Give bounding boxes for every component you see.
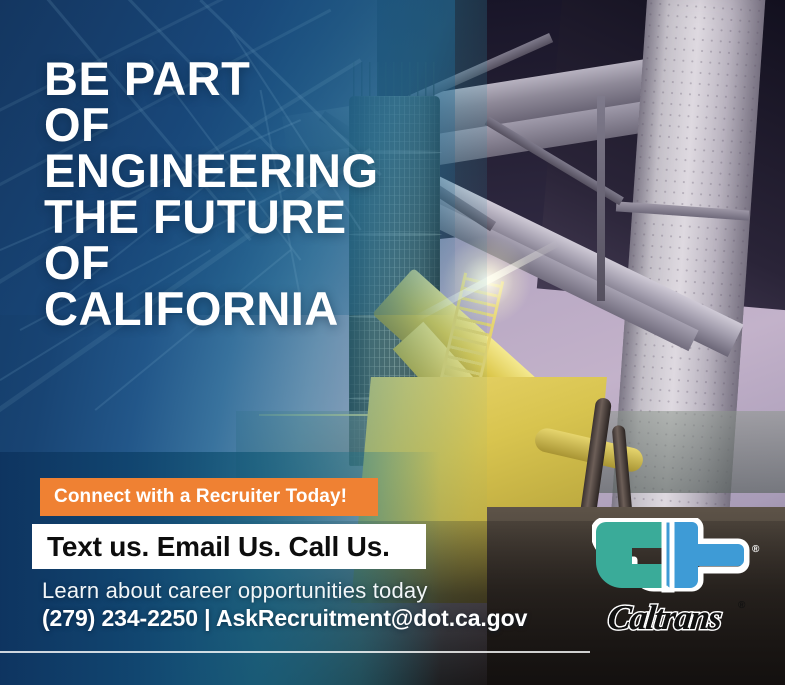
registered-trademark-wordmark: ® xyxy=(738,600,745,611)
caltrans-wordmark: Caltrans xyxy=(606,598,723,638)
contact-details[interactable]: (279) 234-2250 | AskRecruitment@dot.ca.g… xyxy=(42,605,527,632)
truss-vertical-post xyxy=(597,96,606,302)
learn-more-text: Learn about career opportunities today xyxy=(42,578,428,604)
recruiter-cta-label: Connect with a Recruiter Today! xyxy=(40,486,347,508)
page-title: BE PART OF ENGINEERING THE FUTURE OF CAL… xyxy=(44,56,379,332)
bottom-divider-line xyxy=(0,651,590,653)
registered-trademark-mark: ® xyxy=(752,544,759,555)
contact-methods-label: Text us. Email Us. Call Us. xyxy=(32,531,390,563)
caltrans-logo[interactable]: Caltrans Caltrans ® ® xyxy=(592,518,767,648)
caltrans-ct-mark-icon xyxy=(592,518,767,604)
recruiter-cta-bar[interactable]: Connect with a Recruiter Today! xyxy=(40,478,378,516)
recruitment-ad-banner: BE PART OF ENGINEERING THE FUTURE OF CAL… xyxy=(0,0,785,685)
contact-methods-bar[interactable]: Text us. Email Us. Call Us. xyxy=(32,524,426,569)
